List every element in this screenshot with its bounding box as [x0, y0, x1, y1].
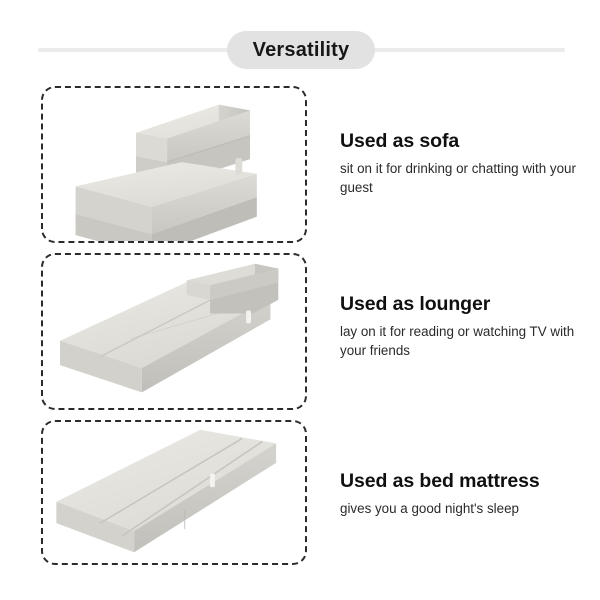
feature-headline: Used as sofa	[340, 130, 590, 152]
feature-headline: Used as bed mattress	[340, 470, 590, 492]
feature-row-lounger: Used as lounger lay on it for reading or…	[0, 253, 600, 410]
page-title: Versatility	[253, 40, 350, 60]
feature-copy-bed-mattress: Used as bed mattress gives you a good ni…	[340, 470, 590, 518]
feature-copy-sofa: Used as sofa sit on it for drinking or c…	[340, 130, 590, 197]
lounger-illustration	[43, 255, 305, 408]
feature-subcopy: gives you a good night's sleep	[340, 499, 586, 518]
product-photo-lounger	[41, 253, 307, 410]
feature-headline: Used as lounger	[340, 293, 590, 315]
feature-subcopy: lay on it for reading or watching TV wit…	[340, 322, 586, 360]
header-rule-left	[38, 48, 236, 52]
feature-row-sofa: Used as sofa sit on it for drinking or c…	[0, 86, 600, 243]
feature-copy-lounger: Used as lounger lay on it for reading or…	[340, 293, 590, 360]
product-photo-bed-mattress	[41, 420, 307, 565]
feature-row-bed-mattress: Used as bed mattress gives you a good ni…	[0, 420, 600, 565]
product-photo-sofa	[41, 86, 307, 243]
infographic-page: Versatility	[0, 0, 600, 600]
feature-subcopy: sit on it for drinking or chatting with …	[340, 159, 586, 197]
header-rule-right	[366, 48, 565, 52]
section-header: Versatility	[0, 31, 600, 69]
mattress-illustration	[43, 422, 305, 563]
sofa-illustration	[43, 88, 305, 241]
header-badge: Versatility	[227, 31, 375, 69]
